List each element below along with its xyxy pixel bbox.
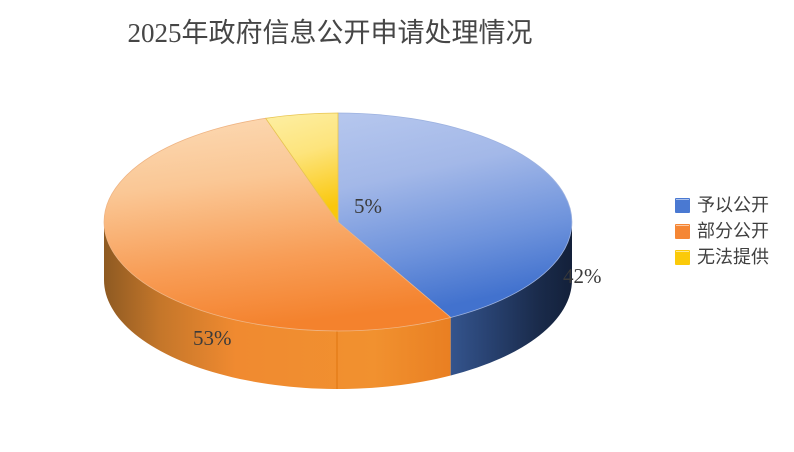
data-label-disclosed: 42%	[563, 266, 602, 287]
legend-item-disclosed[interactable]: 予以公开	[675, 192, 785, 218]
plot-area: 42% 53% 5%	[60, 78, 640, 418]
data-label-part-public: 53%	[193, 328, 232, 349]
legend-label-part-public: 部分公开	[697, 221, 769, 241]
legend-swatch-icon	[675, 224, 690, 239]
data-label-unavailable: 5%	[354, 196, 382, 217]
pie-chart-figure: 2025年政府信息公开申请处理情况	[0, 0, 794, 452]
legend-item-unavailable[interactable]: 无法提供	[675, 244, 785, 270]
legend-item-part-public[interactable]: 部分公开	[675, 218, 785, 244]
legend-label-disclosed: 予以公开	[697, 195, 769, 215]
chart-legend: 予以公开 部分公开 无法提供	[675, 192, 785, 270]
chart-title: 2025年政府信息公开申请处理情况	[0, 16, 660, 50]
legend-label-unavailable: 无法提供	[697, 247, 769, 267]
pie-slice-side-part-public-cut	[336, 331, 338, 389]
legend-swatch-icon	[675, 198, 690, 213]
legend-swatch-icon	[675, 250, 690, 265]
pie-3d-graphic	[60, 78, 640, 418]
